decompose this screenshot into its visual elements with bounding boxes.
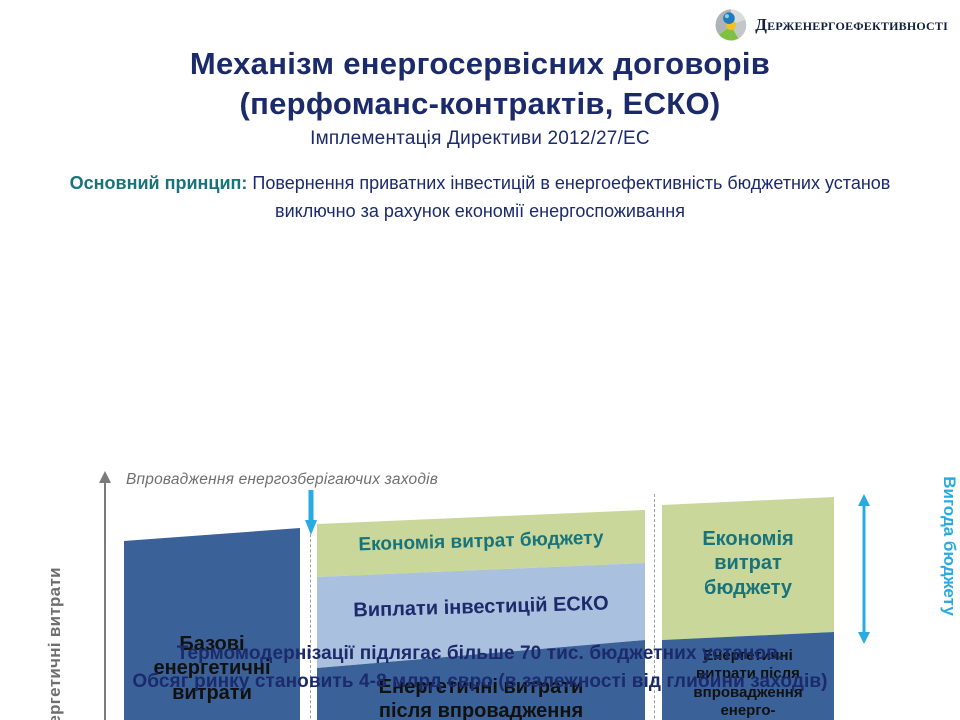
slide-root: Держенергоефективності Механізм енергосе… [0, 0, 960, 720]
principle-text: Повернення приватних інвестицій в енерго… [247, 173, 890, 221]
organization-logo: Держенергоефективності [714, 8, 948, 42]
logo-wordmark: Держенергоефективності [755, 15, 948, 35]
esco-mechanism-chart: Енергетичні витрати Час Впровадження ене… [0, 232, 960, 632]
title-block: Механізм енергосервісних договорів (перф… [0, 44, 960, 151]
globe-logo-icon [714, 8, 748, 42]
y-axis-arrowhead [99, 471, 111, 483]
footer-line-1: Термомодернізації підлягає більше 70 тис… [20, 640, 940, 668]
footer-line-2: Обсяг ринку становить 4-8 млрд євро (в з… [20, 668, 940, 696]
bar-after-savings-label: Економія витрат бюджету [664, 527, 832, 600]
double-arrow-vertical-icon [852, 494, 876, 644]
principle-label: Основний принцип: [70, 173, 248, 193]
implementation-down-arrow-icon [305, 490, 317, 536]
page-title-line-1: Механізм енергосервісних договорів [0, 44, 960, 84]
main-principle-block: Основний принцип: Повернення приватних і… [30, 170, 930, 226]
footer-note: Термомодернізації підлягає більше 70 тис… [20, 640, 940, 696]
implementation-annotation: Впровадження енергозберігаючих заходів [126, 471, 438, 489]
page-subtitle: Імплементація Директиви 2012/27/ЕС [0, 127, 960, 151]
page-title-line-2: (перфоманс-контрактів, ЕСКО) [0, 84, 960, 124]
budget-benefit-indicator: Вигода бюджету [852, 494, 948, 644]
budget-benefit-label: Вигода бюджету [939, 471, 959, 621]
